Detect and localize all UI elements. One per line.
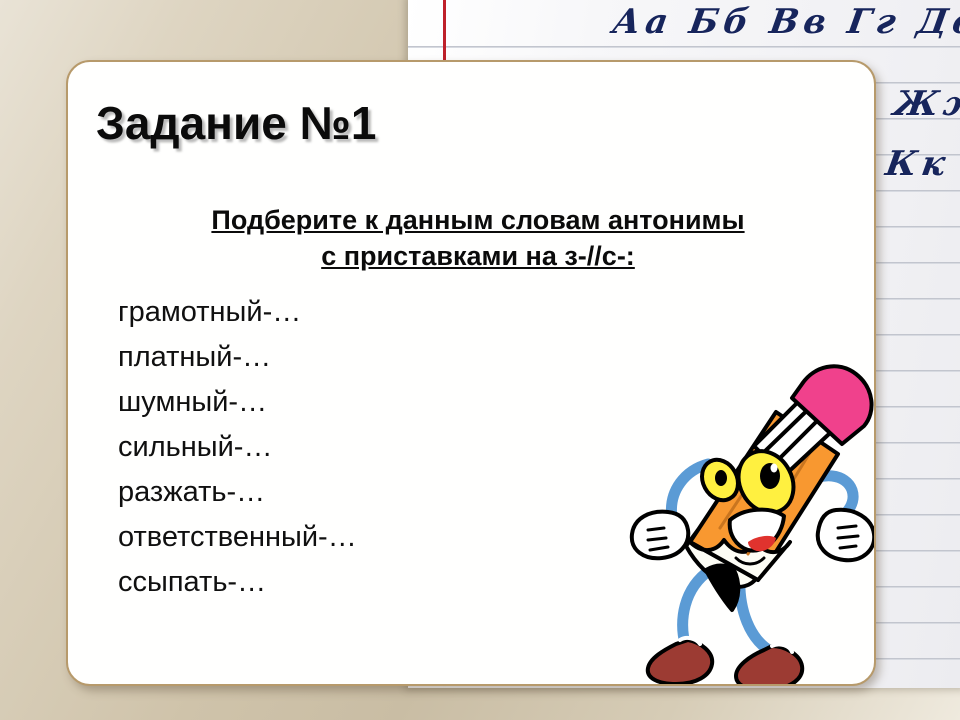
slide-canvas: Аа Бб Вв Гг Дд Ее Жж Кк Задание №1 Подбе…: [0, 0, 960, 720]
word-list: грамотный-… платный-… шумный-… сильный-……: [118, 290, 548, 605]
list-item: разжать-…: [118, 470, 548, 515]
mascot-left-shoe: [648, 638, 712, 684]
task-instruction-line-2: с приставками на з-//с-:: [321, 241, 635, 271]
list-item: платный-…: [118, 335, 548, 380]
pencil-mascot-illustration: [624, 358, 876, 686]
notebook-rule: [408, 46, 960, 48]
list-item: ссыпать-…: [118, 560, 548, 605]
mascot-right-shoe: [736, 644, 802, 686]
calligraphy-row-1: Аа Бб Вв Гг Дд Ее: [610, 2, 960, 42]
mascot-eye-highlight: [771, 464, 778, 473]
calligraphy-row-2: Жж: [891, 84, 960, 124]
list-item: сильный-…: [118, 425, 548, 470]
list-item: ответственный-…: [118, 515, 548, 560]
list-item: грамотный-…: [118, 290, 548, 335]
content-card: Задание №1 Подберите к данным словам ант…: [66, 60, 876, 686]
mascot-left-glove: [632, 512, 688, 559]
list-item: шумный-…: [118, 380, 548, 425]
page-title: Задание №1: [96, 96, 376, 150]
task-instruction-line-1: Подберите к данным словам антонимы: [211, 205, 744, 235]
mascot-right-glove: [818, 510, 874, 560]
mascot-left-pupil: [715, 470, 727, 486]
mascot-graphite-tip: [706, 566, 738, 611]
task-instruction: Подберите к данным словам антонимы с при…: [98, 202, 858, 274]
calligraphy-row-3: Кк: [883, 144, 953, 184]
